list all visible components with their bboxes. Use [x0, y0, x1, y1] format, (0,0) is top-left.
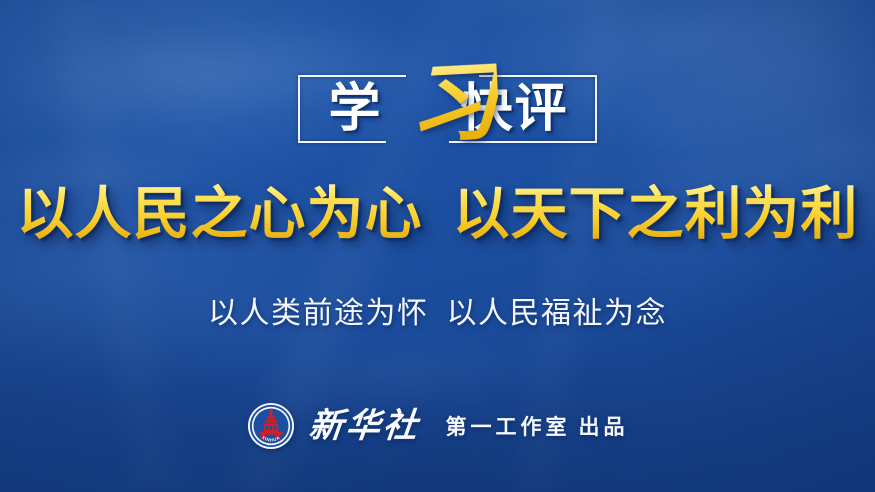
poster-canvas: 学 快 评 习 以人民之心为心以天下之利为利 以人类前途为怀以人民福祉为念: [0, 0, 875, 492]
brand-name-xinhua: 新华社: [307, 409, 422, 443]
title-char-xue: 学: [328, 83, 380, 135]
headline-part-1: 以人民之心为心: [17, 180, 423, 247]
produced-by-label: 出品: [579, 414, 629, 439]
title-char-ping: 评: [515, 83, 567, 135]
title-char-kuai: 快: [460, 83, 512, 135]
subtitle-part-2: 以人民福祉为念: [447, 297, 668, 330]
subtitle-part-1: 以人类前途为怀: [208, 297, 429, 330]
subtitle: 以人类前途为怀以人民福祉为念: [0, 296, 875, 332]
headline: 以人民之心为心以天下之利为利: [0, 182, 875, 246]
title-characters: 学 快 评: [298, 75, 597, 143]
title-lockup: 学 快 评 习: [298, 75, 597, 143]
headline-part-2: 以天下之利为利: [453, 180, 859, 247]
studio-credit: 第一工作室出品: [446, 416, 629, 437]
studio-name: 第一工作室: [446, 414, 571, 439]
footer-credit: XINHUA 新华社 第一工作室出品: [0, 398, 875, 454]
xinhua-logo-icon: XINHUA: [247, 402, 295, 450]
